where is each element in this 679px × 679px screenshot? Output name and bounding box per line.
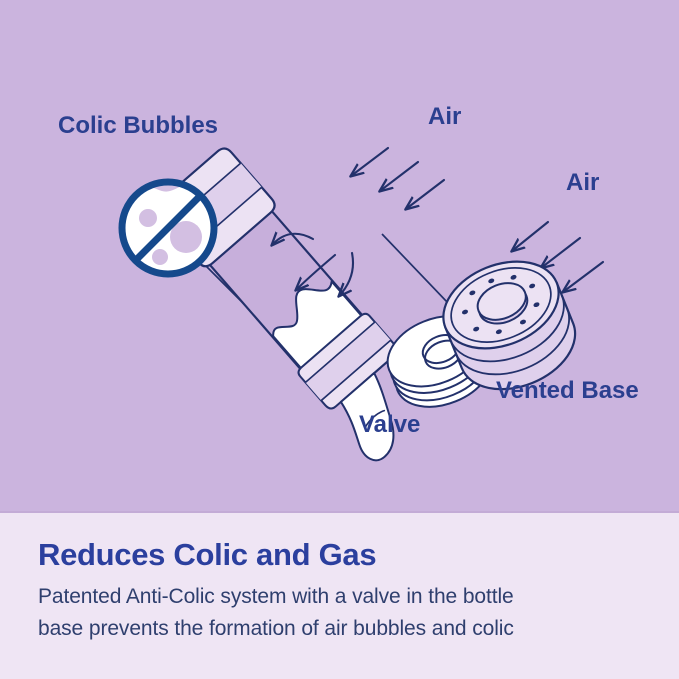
label-air-top: Air [428,103,461,130]
air-arrow-base-1 [512,222,548,251]
air-arrow-base-2 [541,238,580,268]
air-arrow-cap-3 [406,180,444,209]
body-line-1: Patented Anti-Colic system with a valve … [38,581,658,614]
air-arrows-into-cap [351,148,444,209]
diagram-panel: Colic Bubbles Air Air Valve Vented Base [0,0,679,513]
air-arrow-cap-1 [351,148,388,176]
air-arrow-base-3 [563,262,603,292]
body-line-2: base prevents the formation of air bubbl… [38,613,658,646]
anti-colic-diagram: Colic Bubbles Air Air Valve Vented Base [0,0,679,513]
label-colic-bubbles: Colic Bubbles [58,112,218,139]
product-feature-infographic: Colic Bubbles Air Air Valve Vented Base … [0,0,679,679]
headline: Reduces Colic and Gas [38,538,658,573]
air-arrow-cap-2 [380,162,418,191]
bubble-medium [139,209,157,227]
caption-panel: Reduces Colic and Gas Patented Anti-Coli… [0,513,679,679]
label-valve: Valve [359,411,420,438]
label-air-right: Air [566,169,599,196]
caption-text-block: Reduces Colic and Gas Patented Anti-Coli… [38,538,658,646]
label-vented-base: Vented Base [496,377,639,404]
bubble-small [152,249,168,265]
